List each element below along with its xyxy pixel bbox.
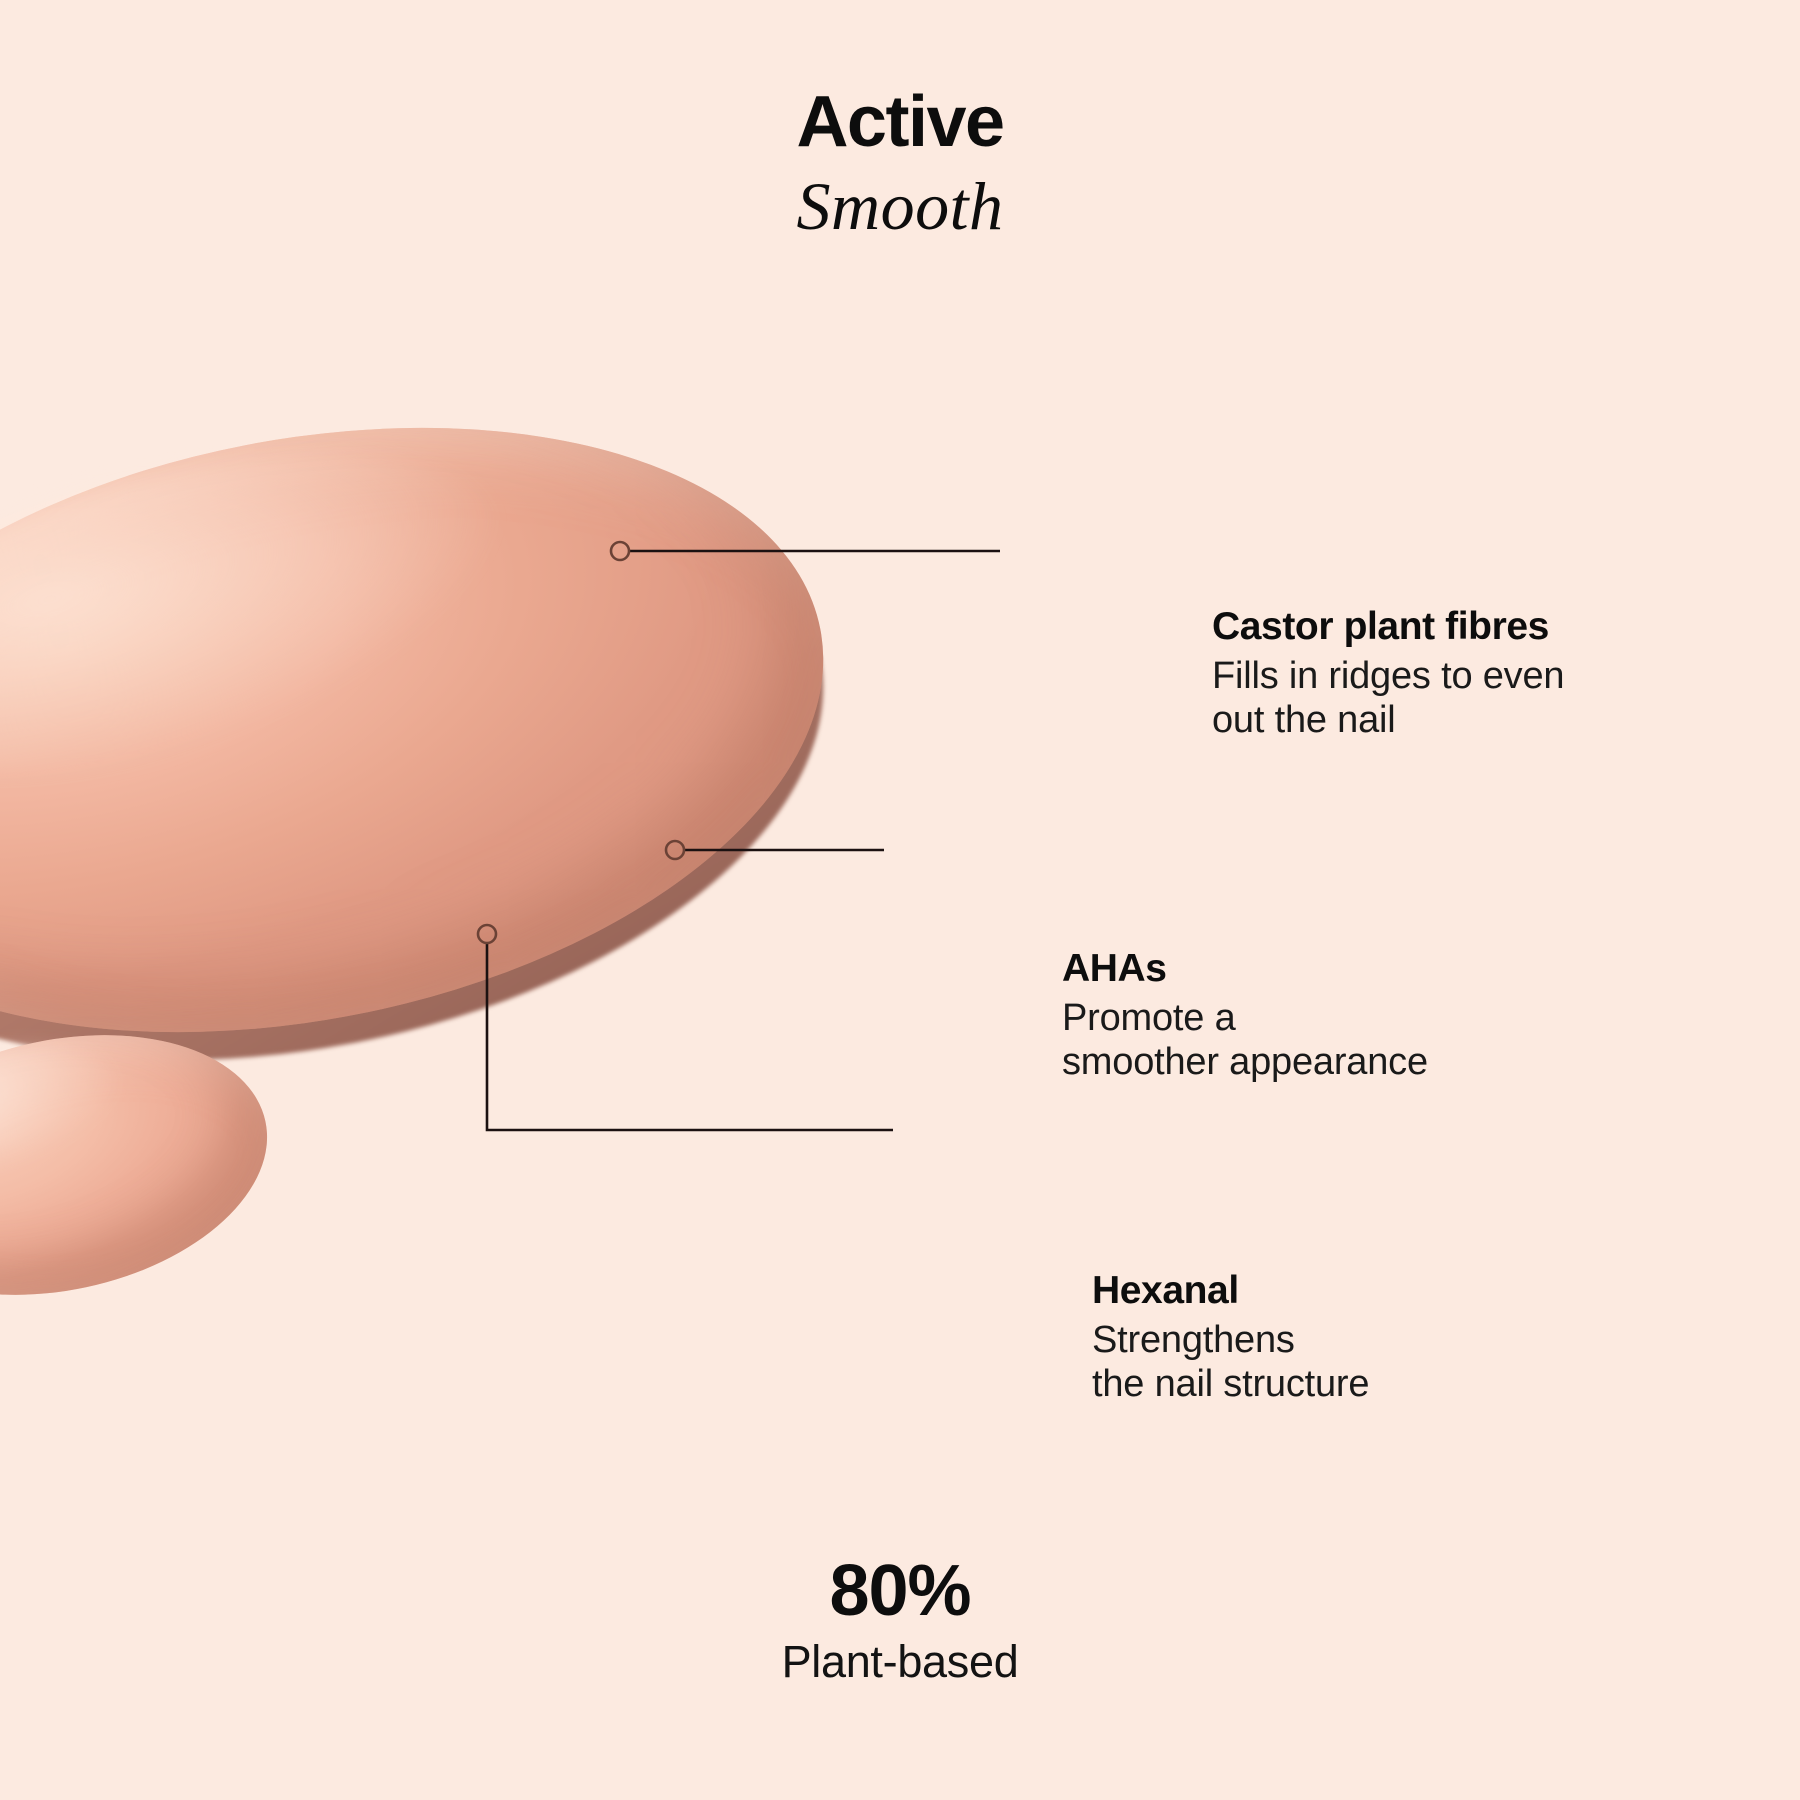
small-droplet-body [0,999,291,1331]
marker-dot-castor [611,542,629,560]
callout-ahas: AHAs Promote a smoother appearance [1062,946,1428,1085]
small-droplet-rim [0,1017,291,1349]
plant-based-claim: 80% Plant-based [0,1552,1800,1687]
callout-desc-castor-line2: out the nail [1212,698,1564,742]
page-title: Active Smooth [0,86,1800,240]
callout-title-hexanal: Hexanal [1092,1268,1369,1314]
callout-leader-lines [0,0,1800,1800]
callout-desc-ahas-line1: Promote a [1062,996,1428,1040]
plant-based-label: Plant-based [0,1637,1800,1687]
small-polish-droplet [0,1040,270,1290]
large-droplet-rim [0,372,876,1144]
large-polish-droplet [0,440,830,1020]
callout-castor-plant-fibres: Castor plant fibres Fills in ridges to e… [1212,604,1564,743]
large-droplet-body [0,344,876,1116]
leader-line-castor [611,542,1000,560]
leader-line-ahas [666,841,884,859]
callout-desc-hexanal-line2: the nail structure [1092,1362,1369,1406]
infographic-canvas: Active Smooth Castor plant fibres Fills … [0,0,1800,1800]
callout-title-ahas: AHAs [1062,946,1428,992]
callout-title-castor: Castor plant fibres [1212,604,1564,650]
plant-based-percentage: 80% [0,1552,1800,1631]
large-droplet-sheen [0,394,535,833]
marker-dot-ahas [666,841,684,859]
callout-desc-ahas-line2: smoother appearance [1062,1040,1428,1084]
callout-desc-castor-line1: Fills in ridges to even [1212,654,1564,698]
leader-line-hexanal [478,925,893,1130]
product-artwork [0,0,1800,1800]
title-line-smooth: Smooth [0,172,1800,240]
title-line-active: Active [0,86,1800,158]
marker-dot-hexanal [478,925,496,943]
small-droplet-sheen [0,1024,128,1191]
callout-desc-hexanal-line1: Strengthens [1092,1318,1369,1362]
callout-hexanal: Hexanal Strengthens the nail structure [1092,1268,1369,1407]
